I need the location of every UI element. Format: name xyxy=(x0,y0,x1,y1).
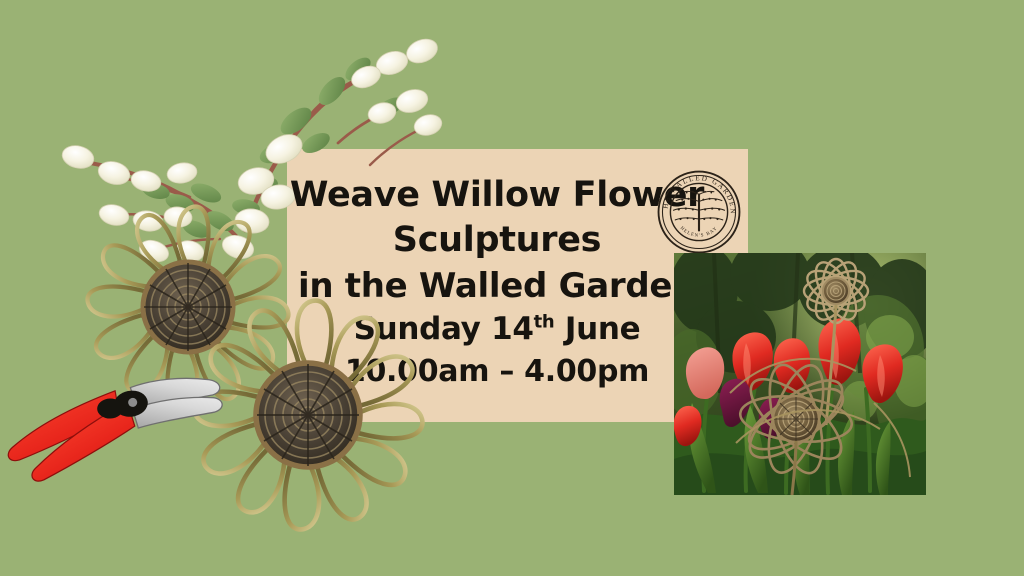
garden-photo xyxy=(674,253,926,495)
headline-line-3: in the Walled Garden xyxy=(287,269,707,303)
stamp-top-text: THE WALLED GARDEN xyxy=(655,168,737,215)
event-date: Sunday 14th June xyxy=(287,314,707,345)
walled-garden-stamp-logo: THE WALLED GARDEN HELEN'S BAY xyxy=(655,168,743,256)
headline-line-1: Weave Willow Flower xyxy=(287,178,707,213)
headline-line-2: Sculptures xyxy=(287,223,707,258)
event-date-suffix: June xyxy=(554,311,640,347)
event-date-ordinal: th xyxy=(534,312,555,333)
event-date-prefix: Sunday 14 xyxy=(354,311,534,347)
poster-canvas: Weave Willow Flower Sculptures in the Wa… xyxy=(0,0,1024,576)
event-time: 10.00am – 4.00pm xyxy=(287,357,707,387)
headline-block: Weave Willow Flower Sculptures in the Wa… xyxy=(287,178,707,387)
